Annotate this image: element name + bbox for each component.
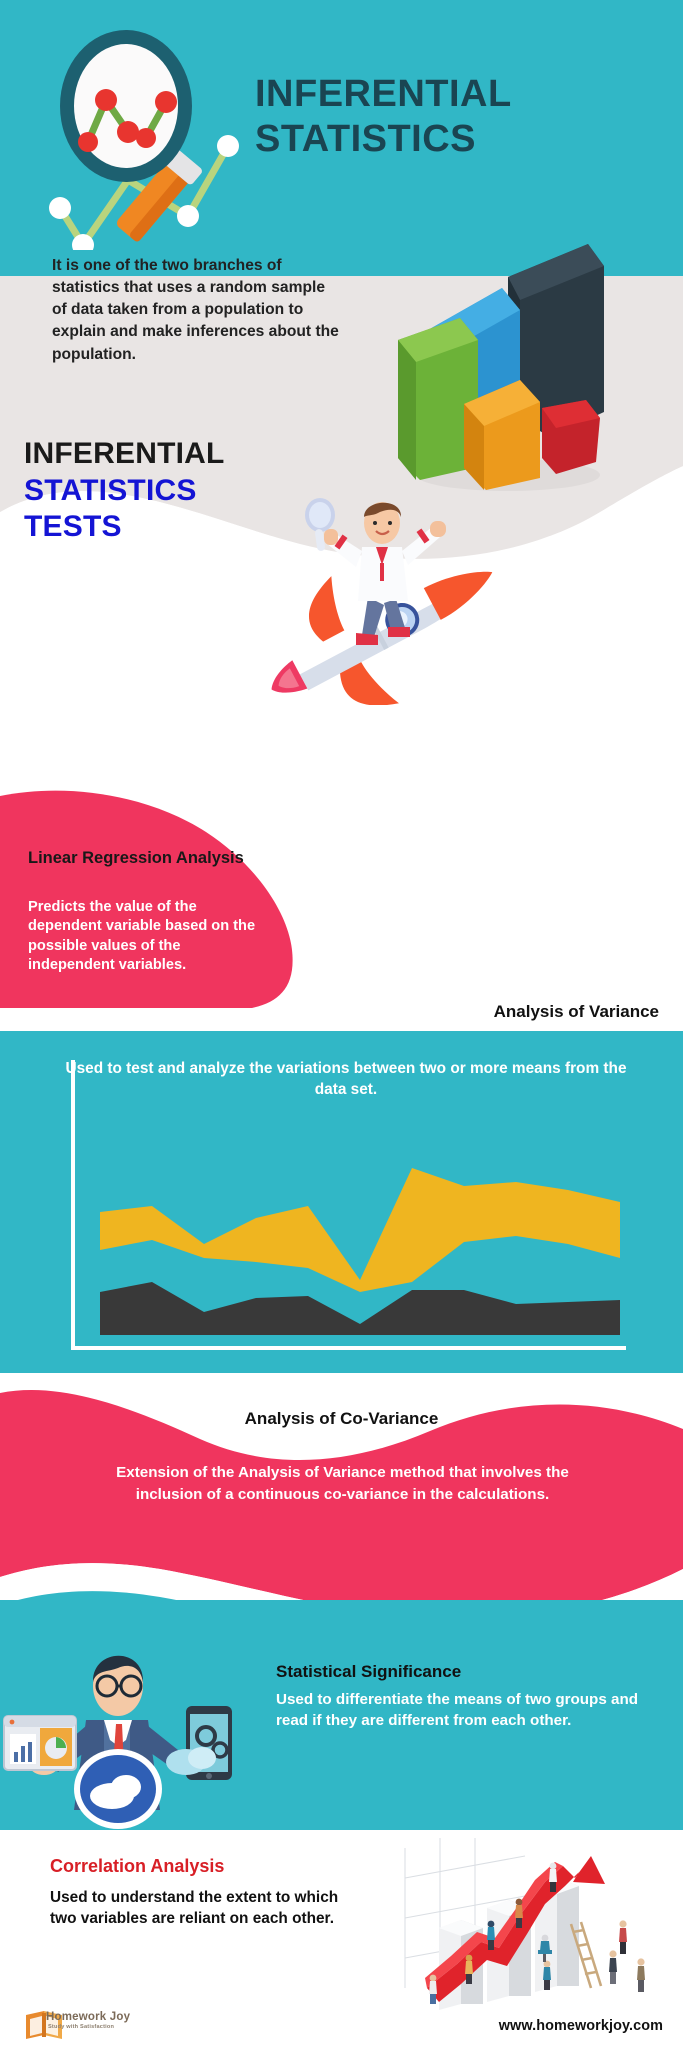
section-body-analysis-of-covariance: Extension of the Analysis of Variance me…: [110, 1462, 575, 1505]
section-body-analysis-of-variance: Used to test and analyze the variations …: [56, 1058, 636, 1101]
logo-tagline: Study with Satisfaction: [48, 2024, 114, 2030]
logo-name: Homework Joy: [46, 2011, 130, 2023]
tests-heading-line1: INFERENTIAL: [24, 436, 384, 473]
businessman-cloud-icon: [0, 1624, 265, 1829]
man-riding-rocket-icon: [250, 485, 510, 705]
page-title-line1: INFERENTIAL: [255, 73, 512, 115]
rising-arrow-chart-icon: [395, 1838, 665, 2013]
website-url[interactable]: www.homeworkjoy.com: [499, 2018, 663, 2034]
pie-chart-3d-icon: [390, 222, 620, 497]
intro-paragraph: It is one of the two branches of statist…: [52, 255, 342, 366]
section-title-statistical-significance: Statistical Significance: [276, 1662, 666, 1682]
infographic-page: INFERENTIAL STATISTICS It is one of the …: [0, 0, 683, 2048]
anova-area-chart: [100, 1140, 620, 1335]
magnifying-glass-icon: [38, 20, 253, 250]
section-title-analysis-of-covariance: Analysis of Co-Variance: [0, 1409, 683, 1429]
section-title-linear-regression: Linear Regression Analysis: [28, 848, 273, 868]
section-body-correlation-analysis: Used to understand the extent to which t…: [50, 1888, 350, 1930]
section-title-correlation-analysis: Correlation Analysis: [50, 1856, 380, 1877]
section-title-analysis-of-variance: Analysis of Variance: [0, 1002, 659, 1022]
page-title: INFERENTIAL STATISTICS: [255, 72, 675, 162]
page-title-line2: STATISTICS: [255, 117, 675, 162]
section-body-linear-regression: Predicts the value of the dependent vari…: [28, 898, 268, 975]
section-body-statistical-significance: Used to differentiate the means of two g…: [276, 1690, 661, 1731]
